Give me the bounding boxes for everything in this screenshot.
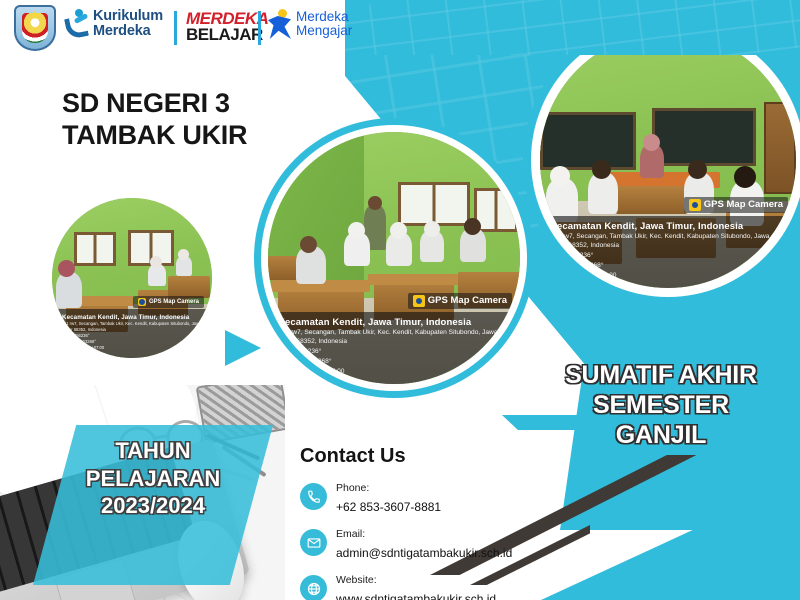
logo-divider-1	[174, 11, 177, 45]
gps-brand-badge: GPS Map Camera	[133, 296, 204, 308]
contact-row-website: Website: www.sdntigatambakukir.sch.id	[300, 569, 540, 600]
blackboard	[540, 112, 636, 170]
header-keyboard-texture	[345, 0, 800, 55]
desk	[168, 276, 210, 298]
student-head	[150, 256, 162, 268]
merdeka-mengajar-label: Merdeka Mengajar	[296, 10, 352, 38]
contact-section: Contact Us Phone: +62 853-3607-8881 Emai…	[300, 445, 540, 600]
gps-place: Kecamatan Kendit, Jawa Timur, Indonesia	[550, 221, 788, 232]
gps-lat: Lat -7.756236°	[278, 347, 512, 357]
gps-brand-badge: GPS Map Camera	[684, 197, 788, 213]
sumatif-line-2: SEMESTER	[528, 390, 794, 420]
gps-place: Kecamatan Kendit, Jawa Timur, Indonesia	[278, 317, 512, 328]
contact-website-text: Website: www.sdntigatambakukir.sch.id	[336, 569, 496, 600]
kurikulum-merdeka-icon	[66, 9, 88, 39]
gps-map-camera-icon	[689, 199, 701, 211]
kurikulum-merdeka-label: Kurikulum Merdeka	[93, 9, 163, 39]
email-icon	[300, 529, 327, 556]
sumatif-line-3: GANJIL	[528, 420, 794, 450]
kurikulum-line-2: Merdeka	[93, 24, 163, 39]
header-teal-panel	[345, 0, 800, 55]
emblem-star-icon: ★	[30, 10, 40, 21]
photo-right-classroom: GPS Map Camera Kecamatan Kendit, Jawa Ti…	[540, 32, 796, 288]
contact-email-label: Email:	[336, 528, 365, 540]
title-line-2: TAMBAK UKIR	[62, 120, 292, 152]
sumatif-heading: SUMATIF AKHIR SEMESTER GANJIL	[528, 360, 794, 450]
gps-lat: Lat -7.756236°	[550, 251, 788, 261]
gps-address-1: Rt1 rw7, Secangan, Tambak Ukir, Kec. Ken…	[550, 232, 788, 242]
gps-map-camera-icon	[138, 298, 146, 306]
merdeka-mengajar-logo: Merdeka Mengajar	[268, 8, 352, 40]
photo-left-classroom: GPS Map Camera Kecamatan Kendit, Jawa Ti…	[52, 198, 212, 358]
student-head	[550, 166, 570, 186]
jawa-timur-emblem-icon: ★	[14, 5, 56, 51]
gps-time: 07:34 AM GMT +07:00	[550, 271, 788, 281]
teacher-head	[643, 134, 660, 151]
student-head	[390, 222, 407, 239]
contact-phone-value: +62 853-3607-8881	[336, 500, 441, 514]
student-head	[348, 222, 365, 239]
student-head	[424, 221, 440, 237]
window	[74, 232, 116, 266]
gps-address-1: Rt1 rw7, Secangan, Tambak Ukir, Kec. Ken…	[278, 328, 512, 338]
emblem-shield: ★	[14, 5, 56, 51]
kurikulum-merdeka-logo: Kurikulum Merdeka	[66, 9, 163, 39]
contact-phone-label: Phone:	[336, 482, 369, 494]
sumatif-line-1: SUMATIF AKHIR	[528, 360, 794, 390]
photo-center-classroom: GPS Map Camera Kecamatan Kendit, Jawa Ti…	[268, 132, 520, 384]
logo-divider-2	[258, 11, 261, 45]
gps-address-2: Timur 68352, Indonesia	[278, 337, 512, 347]
mengajar-line-2: Mengajar	[296, 24, 352, 38]
year-line-1: TAHUN	[33, 437, 273, 465]
gps-place: Kecamatan Kendit, Jawa Timur, Indonesia	[62, 314, 204, 321]
contact-row-phone: Phone: +62 853-3607-8881	[300, 477, 540, 516]
student-head	[734, 166, 756, 188]
blackboard	[652, 108, 756, 166]
gps-address-2: Timur 68352, Indonesia	[550, 241, 788, 251]
gps-brand-label: GPS Map Camera	[704, 199, 783, 210]
student-head	[592, 160, 611, 179]
student-head	[300, 236, 317, 253]
contact-email-value: admin@sdntigatambakukir.sch.id	[336, 546, 512, 560]
merdeka-mengajar-icon	[268, 8, 292, 40]
gps-long: Long 113.923268°	[278, 357, 512, 367]
teacher-head	[368, 196, 382, 210]
header-bar: ★ Kurikulum Merdeka MERDEKA BELAJAR Merd…	[0, 0, 800, 55]
mengajar-line-1: Merdeka	[296, 10, 352, 24]
gps-time: 07:34 AM GMT +07:00	[278, 367, 512, 377]
gps-brand-label: GPS Map Camera	[428, 295, 507, 306]
classroom-door	[764, 102, 796, 194]
globe-icon	[300, 575, 327, 600]
merdeka-belajar-logo: MERDEKA BELAJAR	[186, 11, 268, 44]
title-line-1: SD NEGERI 3	[62, 88, 292, 120]
contact-row-email: Email: admin@sdntigatambakukir.sch.id	[300, 523, 540, 562]
student-head	[58, 260, 75, 277]
gps-overlay: GPS Map Camera Kecamatan Kendit, Jawa Ti…	[52, 309, 212, 358]
contact-title: Contact Us	[300, 445, 540, 468]
student-head	[688, 160, 707, 179]
gps-overlay: GPS Map Camera Kecamatan Kendit, Jawa Ti…	[540, 216, 796, 288]
gps-map-camera-icon	[413, 295, 425, 307]
window	[398, 182, 470, 226]
poster-canvas: TAHUN PELAJARAN 2023/2024 GPS Map Camera	[0, 0, 800, 600]
student	[56, 272, 82, 308]
year-line-3: 2023/2024	[33, 492, 273, 520]
student-head	[178, 249, 189, 260]
contact-email-text: Email: admin@sdntigatambakukir.sch.id	[336, 523, 512, 562]
contact-website-value: www.sdntigatambakukir.sch.id	[336, 592, 496, 600]
gps-brand-badge: GPS Map Camera	[408, 293, 512, 309]
phone-icon	[300, 483, 327, 510]
gps-time: 07:34 AM GMT +07:00	[62, 345, 204, 351]
contact-phone-text: Phone: +62 853-3607-8881	[336, 477, 441, 516]
kurikulum-line-1: Kurikulum	[93, 9, 163, 24]
desk-top	[368, 274, 460, 285]
gps-overlay: GPS Map Camera Kecamatan Kendit, Jawa Ti…	[268, 312, 520, 384]
year-badge-text: TAHUN PELAJARAN 2023/2024	[33, 437, 273, 520]
year-line-2: PELAJARAN	[33, 465, 273, 493]
gps-brand-label: GPS Map Camera	[149, 299, 199, 305]
page-title: SD NEGERI 3 TAMBAK UKIR	[62, 88, 292, 151]
gps-long: Long 113.923268°	[550, 261, 788, 271]
contact-website-label: Website:	[336, 574, 377, 586]
merdeka-belajar-line-2: BELAJAR	[186, 27, 268, 43]
student-head	[464, 218, 481, 235]
